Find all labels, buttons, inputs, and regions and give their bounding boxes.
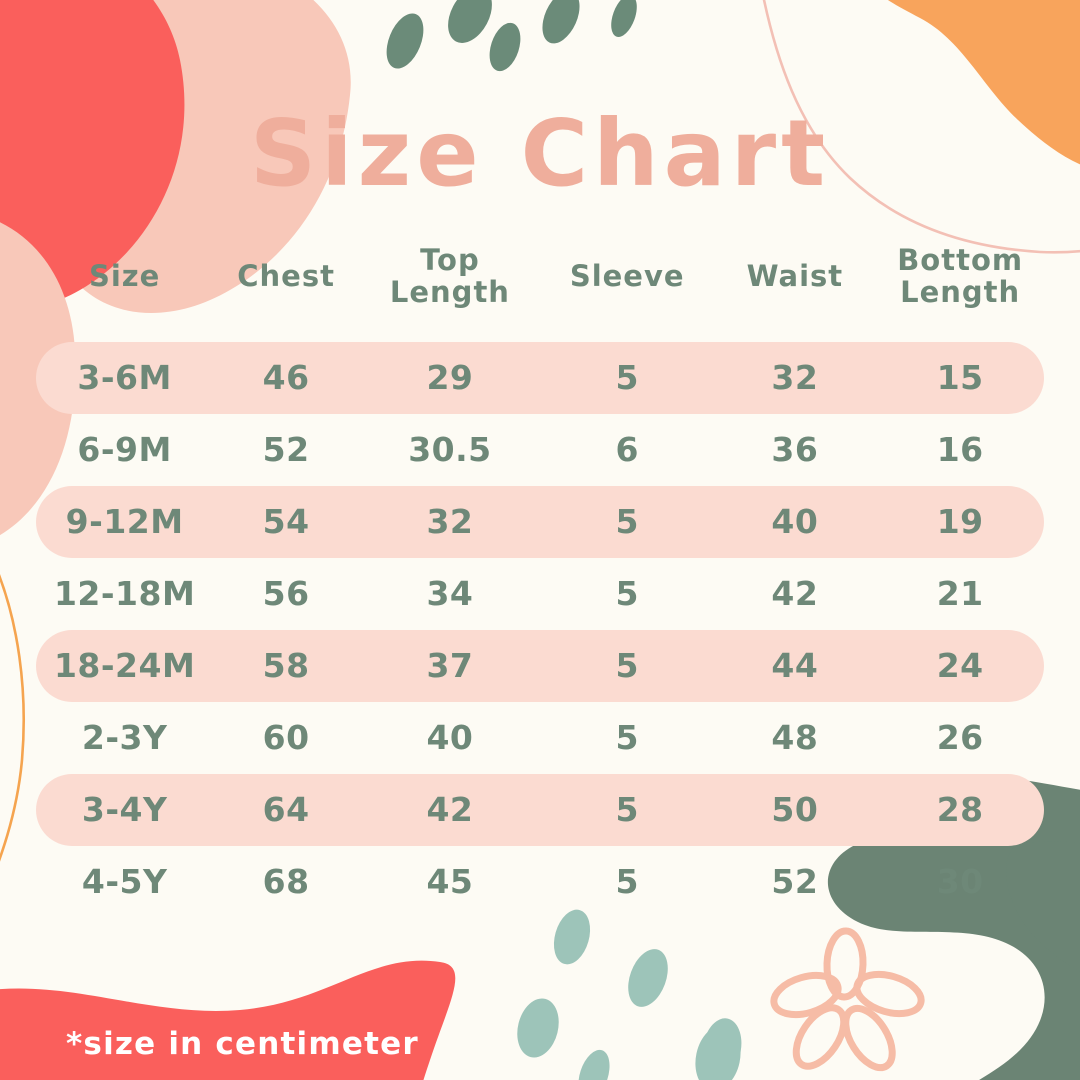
cell-bottom-length: 24	[876, 648, 1044, 685]
table-row: 12-18M 56 34 5 42 21	[36, 558, 1044, 630]
table-header-row: Size Chest Top Length Sleeve Waist Botto…	[36, 228, 1044, 324]
cell-waist: 40	[713, 504, 876, 541]
cell-waist: 44	[713, 648, 876, 685]
table-row: 6-9M 52 30.5 6 36 16	[36, 414, 1044, 486]
cell-bottom-length: 26	[876, 720, 1044, 757]
cell-bottom-length: 15	[876, 360, 1044, 397]
unit-note: *size in centimeter	[66, 1026, 419, 1062]
cell-chest: 56	[213, 576, 359, 613]
cell-bottom-length: 21	[876, 576, 1044, 613]
cell-bottom-length: 30	[876, 864, 1044, 901]
cell-sleeve: 5	[541, 648, 713, 685]
cell-bottom-length: 16	[876, 432, 1044, 469]
table-row: 3-4Y 64 42 5 50 28	[36, 774, 1044, 846]
table-row: 9-12M 54 32 5 40 19	[36, 486, 1044, 558]
cell-size: 9-12M	[36, 504, 213, 541]
cell-sleeve: 5	[541, 360, 713, 397]
cell-sleeve: 5	[541, 576, 713, 613]
cell-top-length: 45	[359, 864, 541, 901]
cell-top-length: 42	[359, 792, 541, 829]
cell-size: 4-5Y	[36, 864, 213, 901]
table-row: 18-24M 58 37 5 44 24	[36, 630, 1044, 702]
cell-size: 2-3Y	[36, 720, 213, 757]
cell-chest: 68	[213, 864, 359, 901]
cell-size: 12-18M	[36, 576, 213, 613]
cell-waist: 50	[713, 792, 876, 829]
cell-size: 3-4Y	[36, 792, 213, 829]
cell-top-length: 29	[359, 360, 541, 397]
table-row: 3-6M 46 29 5 32 15	[36, 342, 1044, 414]
cell-chest: 54	[213, 504, 359, 541]
page-title: Size Chart	[0, 108, 1080, 200]
size-chart-table: Size Chest Top Length Sleeve Waist Botto…	[0, 228, 1080, 918]
cell-chest: 64	[213, 792, 359, 829]
column-header-waist: Waist	[713, 260, 876, 292]
cell-chest: 46	[213, 360, 359, 397]
cell-top-length: 40	[359, 720, 541, 757]
cell-waist: 48	[713, 720, 876, 757]
cell-size: 3-6M	[36, 360, 213, 397]
column-header-top-length: Top Length	[359, 244, 541, 309]
cell-sleeve: 6	[541, 432, 713, 469]
cell-bottom-length: 19	[876, 504, 1044, 541]
cell-top-length: 34	[359, 576, 541, 613]
column-header-bottom-length: Bottom Length	[876, 244, 1044, 309]
column-header-size: Size	[36, 260, 213, 292]
cell-size: 18-24M	[36, 648, 213, 685]
cell-waist: 36	[713, 432, 876, 469]
table-row: 2-3Y 60 40 5 48 26	[36, 702, 1044, 774]
cell-top-length: 37	[359, 648, 541, 685]
cell-chest: 58	[213, 648, 359, 685]
cell-top-length: 30.5	[359, 432, 541, 469]
cell-chest: 52	[213, 432, 359, 469]
cell-top-length: 32	[359, 504, 541, 541]
cell-sleeve: 5	[541, 792, 713, 829]
column-header-sleeve: Sleeve	[541, 260, 713, 292]
size-chart-poster: Size Chart Size Chest Top Length Sleeve …	[0, 0, 1080, 1080]
cell-sleeve: 5	[541, 864, 713, 901]
cell-sleeve: 5	[541, 720, 713, 757]
cell-sleeve: 5	[541, 504, 713, 541]
cell-waist: 32	[713, 360, 876, 397]
cell-size: 6-9M	[36, 432, 213, 469]
cell-bottom-length: 28	[876, 792, 1044, 829]
cell-waist: 52	[713, 864, 876, 901]
table-row: 4-5Y 68 45 5 52 30	[36, 846, 1044, 918]
cell-waist: 42	[713, 576, 876, 613]
cell-chest: 60	[213, 720, 359, 757]
column-header-chest: Chest	[213, 260, 359, 292]
